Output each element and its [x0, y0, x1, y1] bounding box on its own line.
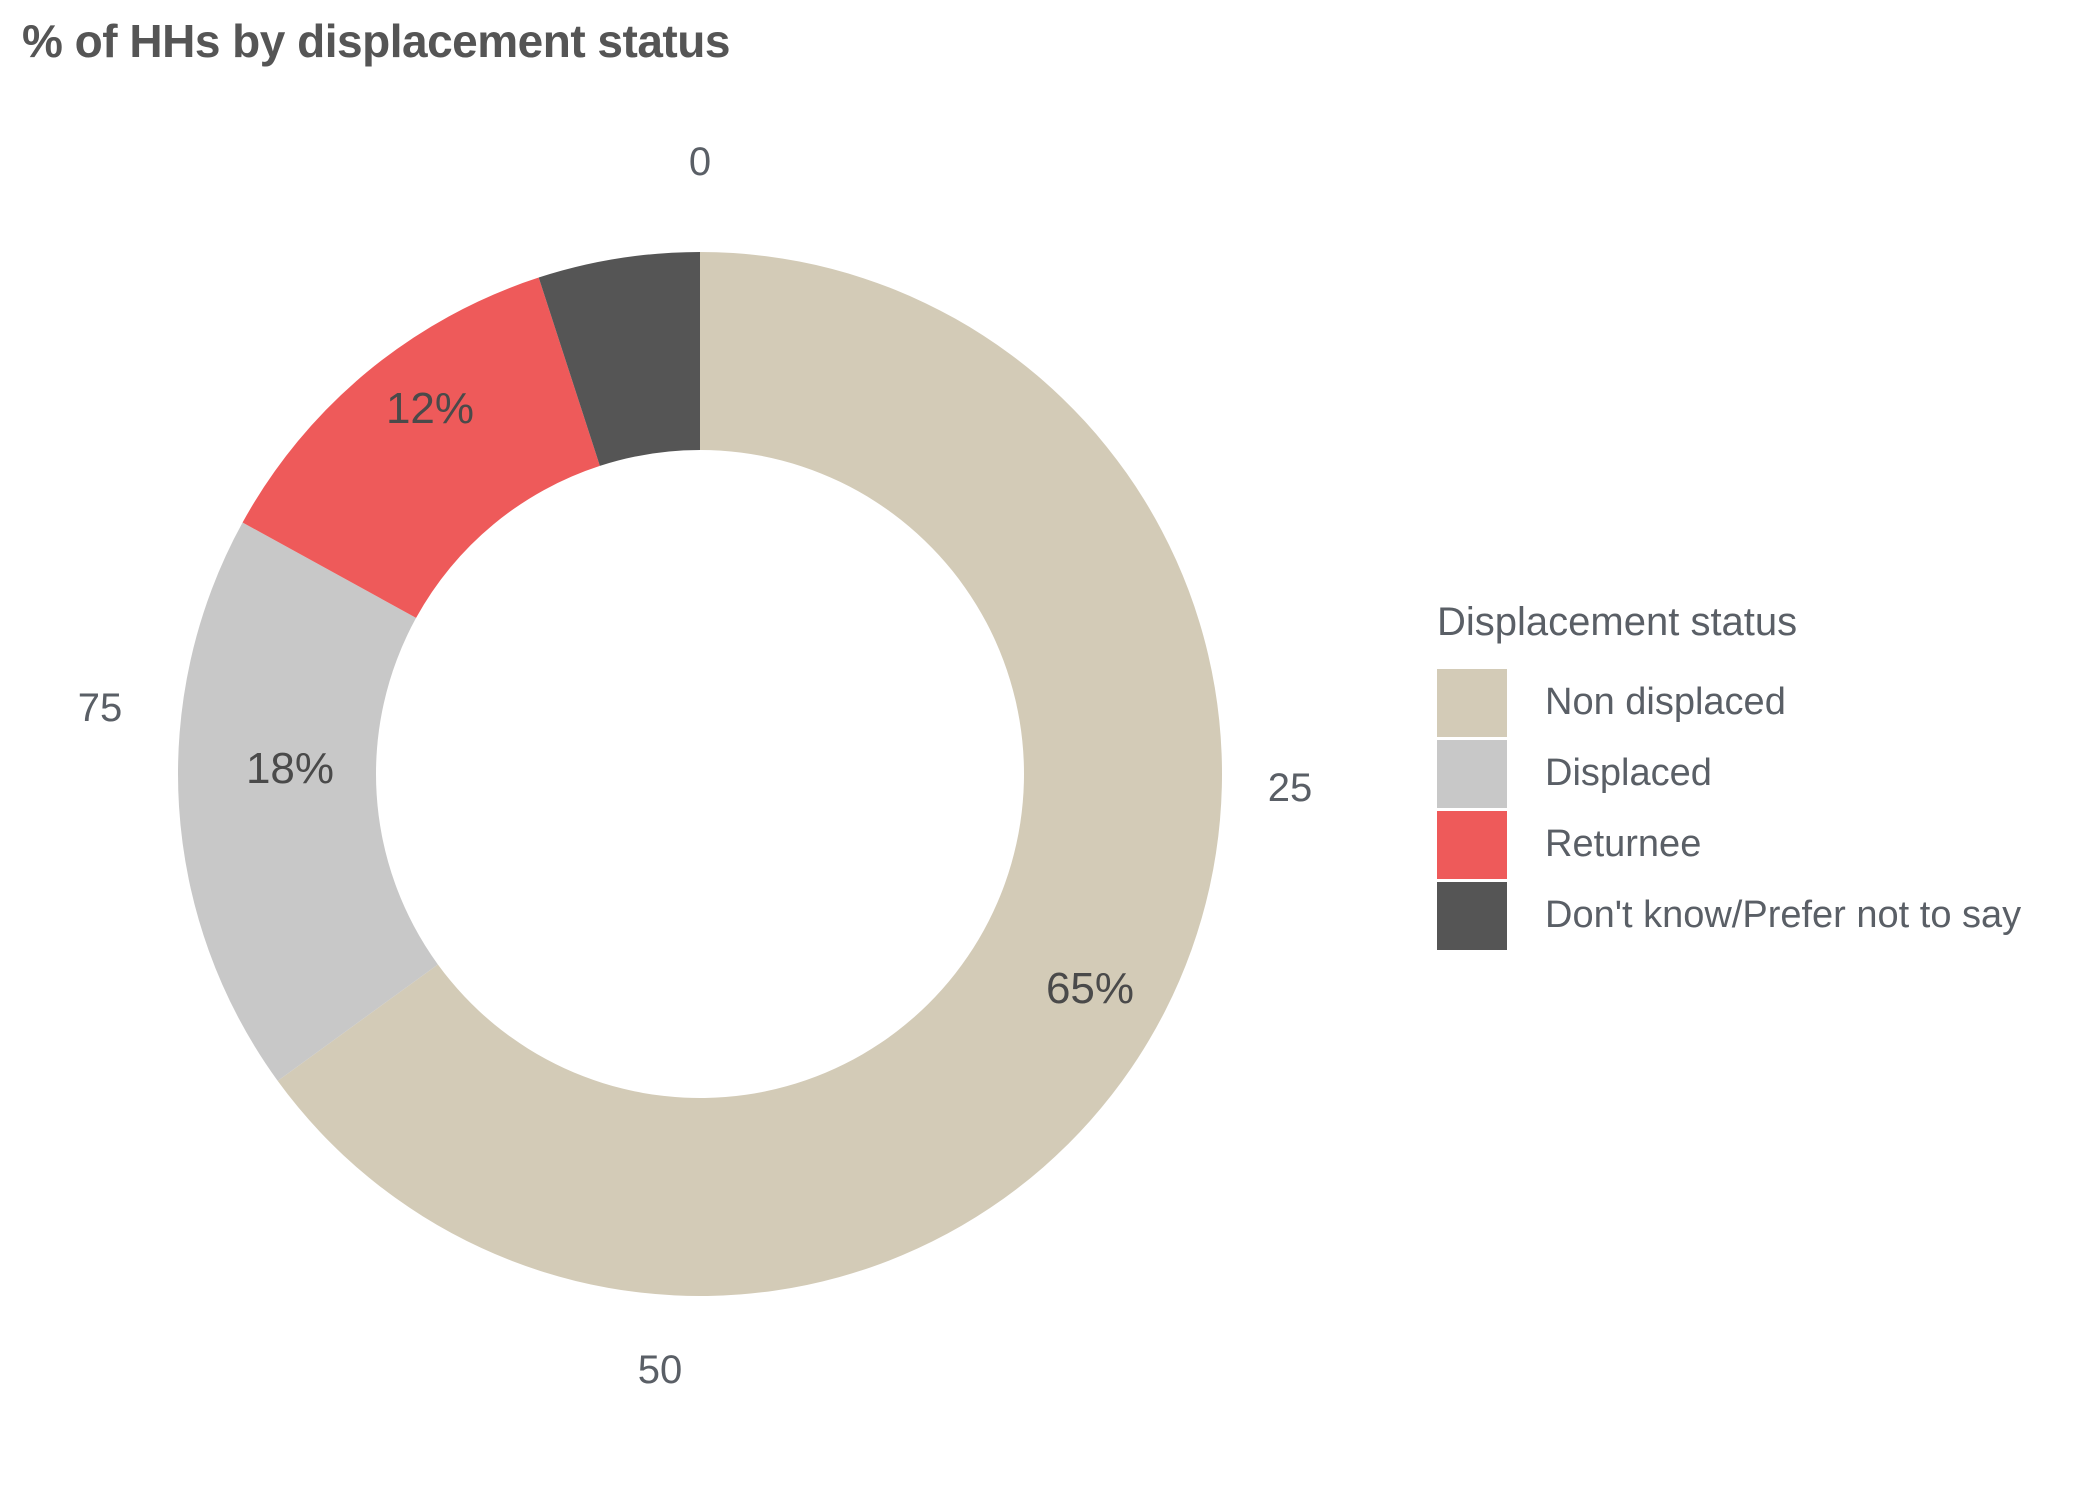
- legend-color-swatch: [1437, 882, 1507, 950]
- legend-item-label: Returnee: [1545, 823, 1701, 866]
- legend-item[interactable]: Displaced: [1437, 738, 2077, 809]
- legend-color-swatch: [1437, 740, 1507, 808]
- axis-tick-25: 25: [1210, 766, 1370, 811]
- slice-label-displaced: 18%: [180, 744, 400, 794]
- donut-chart-plot-area: 0 25 50 75 65% 18% 12%: [0, 0, 1420, 1500]
- legend: Displacement status Non displacedDisplac…: [1437, 600, 2077, 951]
- slice-label-returnee: 12%: [320, 384, 540, 434]
- legend-item-list: Non displacedDisplacedReturneeDon't know…: [1437, 667, 2077, 951]
- legend-title: Displacement status: [1437, 600, 2077, 645]
- legend-color-swatch: [1437, 669, 1507, 737]
- legend-item[interactable]: Returnee: [1437, 809, 2077, 880]
- legend-color-swatch: [1437, 811, 1507, 879]
- legend-item[interactable]: Non displaced: [1437, 667, 2077, 738]
- legend-item-label: Don't know/Prefer not to say: [1545, 894, 2021, 937]
- legend-item[interactable]: Don't know/Prefer not to say: [1437, 880, 2077, 951]
- axis-tick-0: 0: [620, 140, 780, 185]
- axis-tick-75: 75: [20, 686, 180, 731]
- legend-item-label: Non displaced: [1545, 681, 1786, 724]
- axis-tick-50: 50: [580, 1348, 740, 1393]
- legend-item-label: Displaced: [1545, 752, 1712, 795]
- slice-label-non-displaced: 65%: [980, 964, 1200, 1014]
- chart-page: % of HHs by displacement status 0 25 50 …: [0, 0, 2100, 1500]
